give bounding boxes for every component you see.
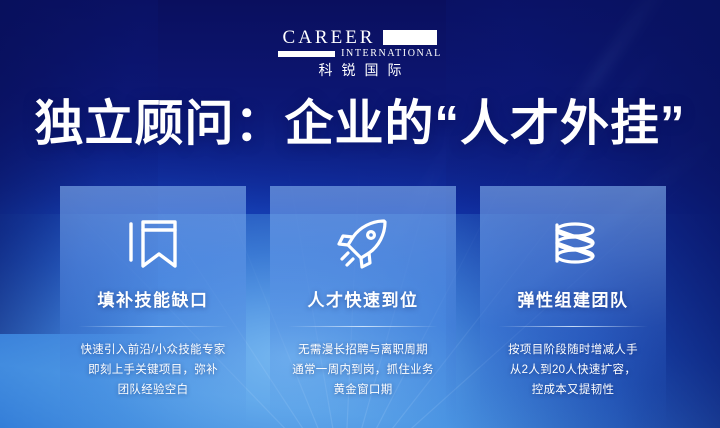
feature-card-line: 通常一周内到岗，抓住业务	[270, 360, 456, 380]
feature-card-line: 黄金窗口期	[270, 380, 456, 400]
logo-primary-row: CAREER	[283, 28, 438, 47]
poster-canvas: CAREER INTERNATIONAL 科锐国际 独立顾问：企业的“人才外挂”…	[0, 0, 720, 428]
feature-card-body: 无需漫长招聘与离职周期 通常一周内到岗，抓住业务 黄金窗口期	[270, 340, 456, 400]
spring-coil-icon	[480, 206, 666, 280]
feature-card-body: 快速引入前沿/小众技能专家 即刻上手关键项目，弥补 团队经验空白	[60, 340, 246, 400]
feature-card-line: 按项目阶段随时增减人手	[480, 340, 666, 360]
feature-card-title: 弹性组建团队	[480, 286, 666, 311]
feature-card-line: 快速引入前沿/小众技能专家	[60, 340, 246, 360]
card-divider	[78, 326, 228, 327]
rocket-icon	[270, 206, 456, 280]
feature-card-line: 即刻上手关键项目，弥补	[60, 360, 246, 380]
feature-card-line: 控成本又提韧性	[480, 380, 666, 400]
feature-card-list: 填补技能缺口 快速引入前沿/小众技能专家 即刻上手关键项目，弥补 团队经验空白	[60, 186, 668, 428]
feature-card-line: 从2人到20人快速扩容，	[480, 360, 666, 380]
brand-logo: CAREER INTERNATIONAL 科锐国际	[0, 28, 720, 77]
book-bookmark-icon	[60, 206, 246, 280]
card-divider	[288, 326, 438, 327]
logo-subtitle: INTERNATIONAL	[341, 49, 442, 59]
feature-card[interactable]: 填补技能缺口 快速引入前沿/小众技能专家 即刻上手关键项目，弥补 团队经验空白	[60, 186, 246, 428]
feature-card-body: 按项目阶段随时增减人手 从2人到20人快速扩容， 控成本又提韧性	[480, 340, 666, 400]
logo-block-icon	[383, 30, 437, 45]
page-title: 独立顾问：企业的“人才外挂”	[0, 96, 720, 154]
feature-card[interactable]: 人才快速到位 无需漫长招聘与离职周期 通常一周内到岗，抓住业务 黄金窗口期	[270, 186, 456, 428]
logo-secondary-row: INTERNATIONAL	[278, 49, 442, 59]
feature-card-title: 人才快速到位	[270, 286, 456, 311]
logo-bar-icon	[278, 51, 335, 57]
feature-card-line: 团队经验空白	[60, 380, 246, 400]
logo-wordmark: CAREER	[283, 28, 376, 47]
card-divider	[498, 326, 648, 327]
logo-chinese-name: 科锐国际	[310, 63, 411, 77]
feature-card-line: 无需漫长招聘与离职周期	[270, 340, 456, 360]
feature-card[interactable]: 弹性组建团队 按项目阶段随时增减人手 从2人到20人快速扩容， 控成本又提韧性	[480, 186, 666, 428]
feature-card-title: 填补技能缺口	[60, 286, 246, 311]
